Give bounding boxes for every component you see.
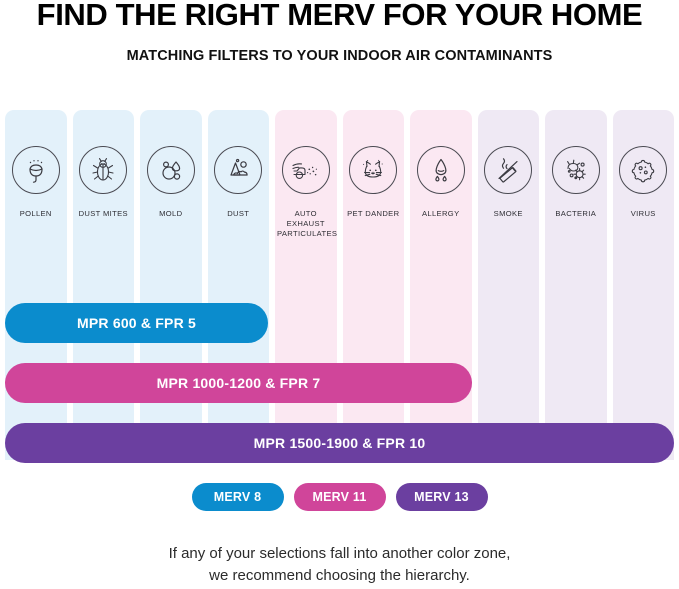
bacteria-icon	[552, 146, 600, 194]
footnote-line-2: we recommend choosing the hierarchy.	[0, 565, 679, 587]
icon-wrap	[140, 146, 202, 194]
icon-wrap	[5, 146, 67, 194]
contaminant-label: AUTO EXHAUST PARTICULATES	[275, 209, 337, 239]
page-title: FIND THE RIGHT MERV FOR YOUR HOME	[0, 0, 679, 32]
virus-icon	[619, 146, 667, 194]
footnote: If any of your selections fall into anot…	[0, 543, 679, 587]
contaminant-label: POLLEN	[5, 209, 67, 219]
legend-pill-merv8[interactable]: MERV 8	[192, 483, 284, 511]
legend-pill-merv11[interactable]: MERV 11	[294, 483, 386, 511]
contaminant-label: SMOKE	[478, 209, 540, 219]
pollen-flower-icon	[12, 146, 60, 194]
icon-wrap	[410, 146, 472, 194]
contaminant-label: DUST MITES	[73, 209, 135, 219]
page-subtitle: MATCHING FILTERS TO YOUR INDOOR AIR CONT…	[0, 48, 679, 64]
contaminant-label: MOLD	[140, 209, 202, 219]
contaminant-label: ALLERGY	[410, 209, 472, 219]
dust-mite-bug-icon	[79, 146, 127, 194]
nose-drip-icon	[417, 146, 465, 194]
dust-cloud-icon	[214, 146, 262, 194]
cat-face-icon	[349, 146, 397, 194]
icon-wrap	[275, 146, 337, 194]
header: FIND THE RIGHT MERV FOR YOUR HOME MATCHI…	[0, 0, 679, 64]
icon-wrap	[208, 146, 270, 194]
icon-wrap	[73, 146, 135, 194]
footnote-line-1: If any of your selections fall into anot…	[0, 543, 679, 565]
contaminant-label: DUST	[208, 209, 270, 219]
icon-wrap	[478, 146, 540, 194]
mold-spores-icon	[147, 146, 195, 194]
icon-wrap	[613, 146, 675, 194]
icon-wrap	[545, 146, 607, 194]
rating-bar-merv11[interactable]: MPR 1000-1200 & FPR 7	[5, 363, 472, 403]
no-smoking-icon	[484, 146, 532, 194]
merv-legend: MERV 8 MERV 11 MERV 13	[0, 483, 679, 511]
rating-bar-merv13[interactable]: MPR 1500-1900 & FPR 10	[5, 423, 674, 463]
icon-wrap	[343, 146, 405, 194]
legend-pill-merv13[interactable]: MERV 13	[396, 483, 488, 511]
car-exhaust-icon	[282, 146, 330, 194]
filter-rating-bars: MPR 600 & FPR 5 MPR 1000-1200 & FPR 7 MP…	[0, 300, 679, 465]
contaminant-label: BACTERIA	[545, 209, 607, 219]
rating-bar-merv8[interactable]: MPR 600 & FPR 5	[5, 303, 268, 343]
contaminant-label: PET DANDER	[343, 209, 405, 219]
contaminant-label: VIRUS	[613, 209, 675, 219]
